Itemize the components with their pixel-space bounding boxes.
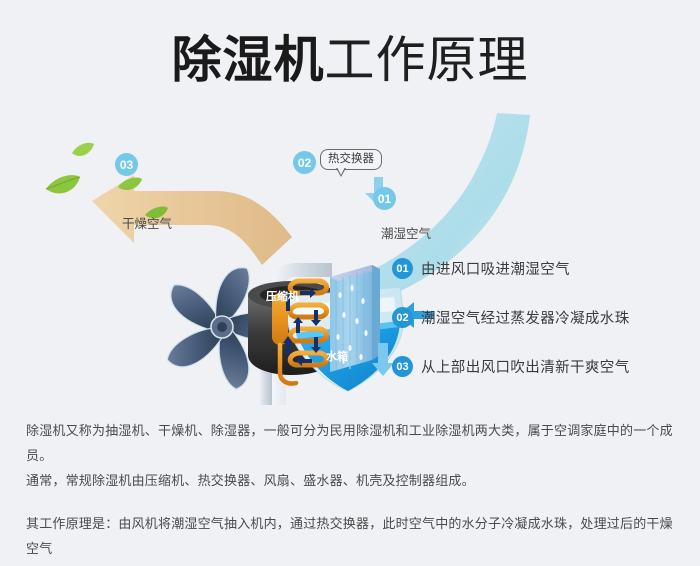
diagram-badge-02: 02	[293, 151, 316, 174]
legend-badge-03: 03	[392, 356, 413, 377]
legend-list: 01 由进风口吸进潮湿空气 02 潮湿空气经过蒸发器冷凝成水珠 03 从上部出风…	[392, 258, 692, 405]
diagram-label-dry-air: 干燥空气	[122, 213, 172, 232]
diagram-label-humid-air: 潮湿空气	[381, 223, 431, 242]
diagram-label-compressor: 压缩机	[266, 288, 299, 304]
body-copy: 除湿机又称为抽湿机、干燥机、除湿器，一般可分为民用除湿机和工业除湿机两大类，属于…	[26, 418, 678, 566]
title-part-1: 除湿机	[172, 32, 325, 88]
legend-text-02: 潮湿空气经过蒸发器冷凝成水珠	[421, 307, 630, 328]
diagram-badge-01: 01	[373, 187, 396, 210]
legend-text-03: 从上部出风口吹出清新干爽空气	[421, 356, 630, 377]
legend-item-01: 01 由进风口吸进潮湿空气	[392, 258, 692, 279]
paragraph-1-line-2: 通常，常规除湿机由压缩机、热交换器、风扇、盛水器、机壳及控制器组成。	[26, 468, 678, 493]
legend-item-03: 03 从上部出风口吹出清新干爽空气	[392, 356, 692, 377]
paragraph-2-line-1: 其工作原理是：由风机将潮湿空气抽入机内，通过热交换器，此时空气中的水分子冷凝成水…	[26, 511, 678, 561]
legend-badge-02: 02	[392, 307, 413, 328]
paragraph-1-line-1: 除湿机又称为抽湿机、干燥机、除湿器，一般可分为民用除湿机和工业除湿机两大类，属于…	[26, 418, 678, 468]
paragraph-2-line-2: 排出机外，如此循环使室内湿度保持在适宜的相对湿度。	[26, 561, 678, 566]
callout-tail-icon	[336, 168, 346, 177]
legend-item-02: 02 潮湿空气经过蒸发器冷凝成水珠	[392, 307, 692, 328]
diagram-label-water-tank: 水箱	[326, 348, 348, 364]
diagram-badge-03: 03	[115, 153, 138, 176]
legend-badge-01: 01	[392, 258, 413, 279]
legend-text-01: 由进风口吸进潮湿空气	[421, 258, 570, 279]
heat-exchanger-callout: 热交换器	[320, 149, 382, 170]
title-part-2: 工作原理	[325, 32, 529, 88]
page-title: 除湿机工作原理	[0, 30, 700, 90]
infographic-page: 除湿机工作原理	[0, 0, 700, 566]
